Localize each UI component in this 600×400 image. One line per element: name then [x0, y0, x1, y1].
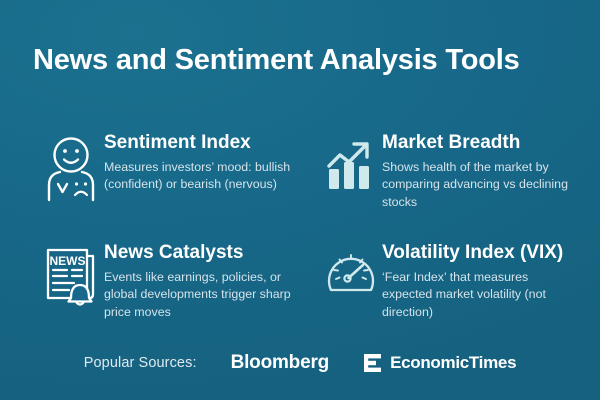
card-title: Market Breadth: [382, 132, 600, 154]
e-block-logo-icon: [363, 353, 382, 373]
card-market-breadth: Market Breadth Shows health of the marke…: [300, 132, 600, 212]
card-body: Shows health of the market by comparing …: [382, 159, 577, 212]
card-title: News Catalysts: [104, 242, 300, 264]
card-body: ‘Fear Index’ that measures expected mark…: [382, 269, 577, 322]
bar-chart-arrow-up-icon: [322, 132, 380, 194]
card-text: Sentiment Index Measures investors’ mood…: [102, 132, 300, 194]
card-text: Volatility Index (VIX) ‘Fear Index’ that…: [380, 242, 600, 322]
card-sentiment-index: Sentiment Index Measures investors’ mood…: [0, 132, 300, 212]
economic-times-logo: EconomicTimes: [363, 353, 516, 373]
bloomberg-logo: Bloomberg: [231, 352, 329, 374]
card-body: Measures investors’ mood: bullish (confi…: [104, 159, 299, 194]
cards-grid: Sentiment Index Measures investors’ mood…: [0, 132, 600, 321]
card-text: Market Breadth Shows health of the marke…: [380, 132, 600, 212]
card-news-catalysts: NEWS News Catalysts Events like earnings…: [0, 242, 300, 322]
footer-sources: Popular Sources: Bloomberg EconomicTimes: [0, 352, 600, 374]
card-title: Sentiment Index: [104, 132, 300, 154]
gauge-speedometer-icon: [322, 242, 380, 298]
card-title: Volatility Index (VIX): [382, 242, 600, 264]
cards-row: NEWS News Catalysts Events like earnings…: [0, 242, 600, 322]
newspaper-masthead-text: NEWS: [50, 254, 86, 268]
economic-times-name: EconomicTimes: [390, 353, 516, 373]
infographic-page: News and Sentiment Analysis Tools: [0, 0, 600, 400]
card-text: News Catalysts Events like earnings, pol…: [102, 242, 300, 322]
popular-sources-label: Popular Sources:: [84, 355, 197, 371]
newspaper-bell-icon: NEWS: [40, 242, 102, 308]
page-title: News and Sentiment Analysis Tools: [33, 44, 520, 77]
card-body: Events like earnings, policies, or globa…: [104, 269, 299, 322]
card-volatility-index: Volatility Index (VIX) ‘Fear Index’ that…: [300, 242, 600, 322]
cards-row: Sentiment Index Measures investors’ mood…: [0, 132, 600, 212]
person-smiley-sad-face-icon: [40, 132, 102, 204]
